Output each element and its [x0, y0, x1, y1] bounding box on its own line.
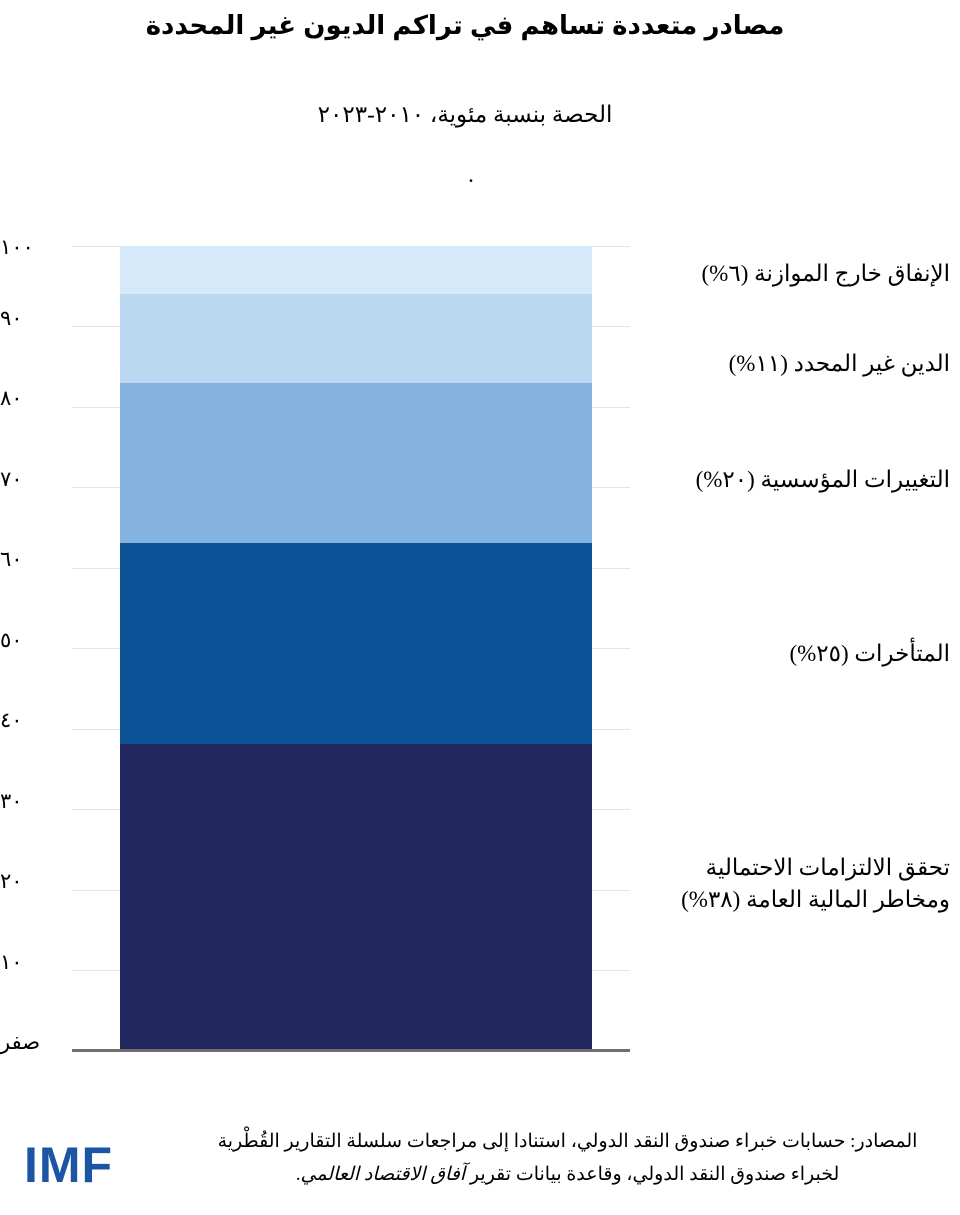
bar-segment-contingent-liabilities[interactable]	[120, 744, 592, 1050]
bar-segment-offbudget-spending[interactable]	[120, 246, 592, 294]
legend-label-institutional-changes: التغييرات المؤسسية (٢٠%)	[620, 464, 950, 496]
bar-segment-unidentified-debt[interactable]	[120, 294, 592, 382]
imf-logo: IMF	[24, 1136, 113, 1194]
chart-plot-area	[72, 246, 630, 1050]
legend-label-unidentified-debt: الدين غير المحدد (١١%)	[620, 348, 950, 380]
source-note-line2-a: لخبراء صندوق النقد الدولي، وقاعدة بيانات…	[465, 1164, 839, 1185]
y-tick-20: ٢٠	[0, 870, 62, 892]
y-tick-60: ٦٠	[0, 548, 62, 570]
y-tick-40: ٤٠	[0, 709, 62, 731]
source-note: المصادر: حسابات خبراء صندوق النقد الدولي…	[180, 1125, 955, 1191]
legend-label-arrears: المتأخرات (٢٥%)	[620, 638, 950, 670]
y-tick-80: ٨٠	[0, 387, 62, 409]
y-tick-30: ٣٠	[0, 790, 62, 812]
source-note-line1: المصادر: حسابات خبراء صندوق النقد الدولي…	[180, 1125, 955, 1158]
x-axis-baseline	[72, 1049, 630, 1052]
y-tick-100: ١٠٠	[0, 236, 62, 258]
y-tick-90: ٩٠	[0, 307, 62, 329]
source-note-publication: آفاق الاقتصاد العالمي	[300, 1164, 465, 1185]
y-tick-10: ١٠	[0, 951, 62, 973]
stacked-bar[interactable]	[120, 246, 592, 1050]
bar-segment-arrears[interactable]	[120, 543, 592, 744]
legend-label-offbudget-spending: الإنفاق خارج الموازنة (٦%)	[620, 258, 950, 290]
source-note-line2: لخبراء صندوق النقد الدولي، وقاعدة بيانات…	[180, 1158, 955, 1191]
chart-subtitle: الحصة بنسبة مئوية، ٢٠١٠-٢٠٢٣	[0, 100, 930, 130]
y-tick-50: ٥٠	[0, 629, 62, 651]
bar-segment-institutional-changes[interactable]	[120, 383, 592, 544]
chart-subnote: .	[0, 160, 942, 190]
legend-label-contingent-line1: تحقق الالتزامات الاحتمالية	[620, 852, 950, 884]
legend-label-contingent-liabilities: تحقق الالتزامات الاحتمالية ومخاطر المالي…	[620, 852, 950, 916]
legend-label-contingent-line2: ومخاطر المالية العامة (٣٨%)	[620, 884, 950, 916]
y-tick-zero: صفر	[0, 1031, 62, 1053]
page-title: مصادر متعددة تساهم في تراكم الديون غير ا…	[0, 8, 930, 42]
y-tick-70: ٧٠	[0, 468, 62, 490]
